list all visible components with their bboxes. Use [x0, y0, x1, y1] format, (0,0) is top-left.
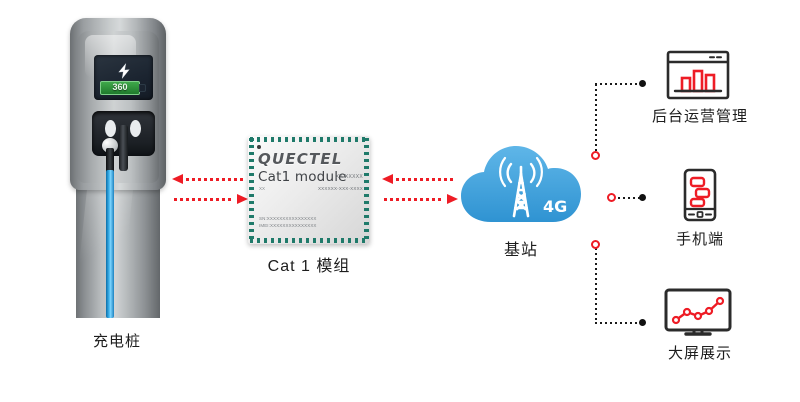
connector-endpoint-dot: [639, 80, 646, 87]
base-station-graphic: 4G: [458, 138, 584, 230]
connector-segment-vertical: [595, 248, 597, 324]
endpoint-bigscreen-label: 大屏展示: [626, 342, 774, 363]
module-sub-right: XXXXXX-XXX-XXXX: [318, 186, 363, 191]
cloud-tower-icon: 4G: [458, 138, 584, 230]
arrow-right-module-cloud: [382, 194, 458, 205]
module-pads-bottom: [250, 238, 368, 243]
endpoint-backend-icon[interactable]: [666, 50, 730, 105]
arrow-dotted-line: [174, 198, 234, 201]
module-imei: IMEI:XXXXXXXXXXXXXXX: [259, 223, 317, 228]
plug-neck: [119, 125, 128, 171]
module-pads-top: [250, 137, 368, 142]
connector-endpoint-dot: [639, 319, 646, 326]
browser-bar-chart-icon: [666, 50, 730, 100]
battery-tip: [139, 84, 146, 92]
charging-pile-label: 充电桩: [42, 330, 192, 351]
module-pads-right: [364, 138, 369, 242]
pile-head-inner: 360: [77, 31, 159, 183]
module-board: QUECTEL Cat1 module XX-XXXXX XX XXXXXX-X…: [248, 136, 370, 244]
cat1-module-graphic: QUECTEL Cat1 module XX-XXXXX XX XXXXXX-X…: [248, 136, 370, 244]
arrow-dotted-line: [396, 178, 456, 181]
arrows-pile-to-module: [172, 172, 248, 212]
arrow-left-pile-module: [172, 174, 248, 185]
arrow-dotted-line: [384, 198, 444, 201]
arrow-dotted-line: [186, 178, 246, 181]
module-pads-left: [249, 138, 254, 242]
endpoint-bigscreen-icon[interactable]: [664, 288, 732, 345]
base-station-label: 基站: [446, 236, 596, 260]
arrow-head-right-icon: [447, 194, 458, 204]
battery-indicator: 360: [100, 81, 147, 93]
lightning-bolt-icon: [115, 62, 133, 80]
charging-cable: [106, 170, 114, 318]
arrow-left-module-cloud: [382, 174, 458, 185]
charging-pile-graphic: 360: [62, 18, 174, 318]
endpoint-backend-label: 后台运营管理: [626, 105, 774, 126]
connector-source-ring: [591, 240, 600, 249]
connector-segment-vertical: [595, 84, 597, 156]
cat1-module-label: Cat 1 模组: [234, 252, 384, 276]
connector-endpoint-dot: [639, 194, 646, 201]
module-pin1-marker: [257, 145, 261, 149]
arrow-head-right-icon: [237, 194, 248, 204]
arrow-head-left-icon: [172, 174, 183, 184]
battery-body: 360: [100, 81, 140, 95]
arrow-head-left-icon: [382, 174, 393, 184]
connector-source-ring: [591, 151, 600, 160]
pile-display-screen: 360: [94, 55, 153, 100]
connector-segment-horizontal: [595, 83, 643, 85]
module-sub-left: XX: [259, 186, 265, 191]
smartphone-list-icon: [683, 168, 717, 222]
module-brand: QUECTEL: [258, 150, 343, 168]
network-badge-text: 4G: [543, 197, 567, 216]
connector-segment-horizontal: [595, 322, 643, 324]
pile-connector-socket: [92, 111, 155, 156]
module-serial-number: SN:XXXXXXXXXXXXXXXX: [259, 216, 316, 221]
diagram-canvas: 360 充电桩: [0, 0, 800, 402]
socket-pin-right: [130, 120, 141, 137]
pile-head: 360: [70, 18, 166, 190]
monitor-line-chart-icon: [664, 288, 732, 340]
module-title: Cat1 module: [258, 169, 347, 185]
connector-source-ring: [607, 193, 616, 202]
endpoint-mobile-icon[interactable]: [683, 168, 717, 227]
module-part-number: XX-XXXXX: [336, 174, 363, 180]
endpoint-mobile-label: 手机端: [626, 228, 774, 249]
arrows-module-to-cloud: [382, 172, 458, 212]
battery-value: 360: [101, 81, 139, 94]
arrow-right-pile-module: [172, 194, 248, 205]
socket-pin-left: [105, 120, 116, 137]
